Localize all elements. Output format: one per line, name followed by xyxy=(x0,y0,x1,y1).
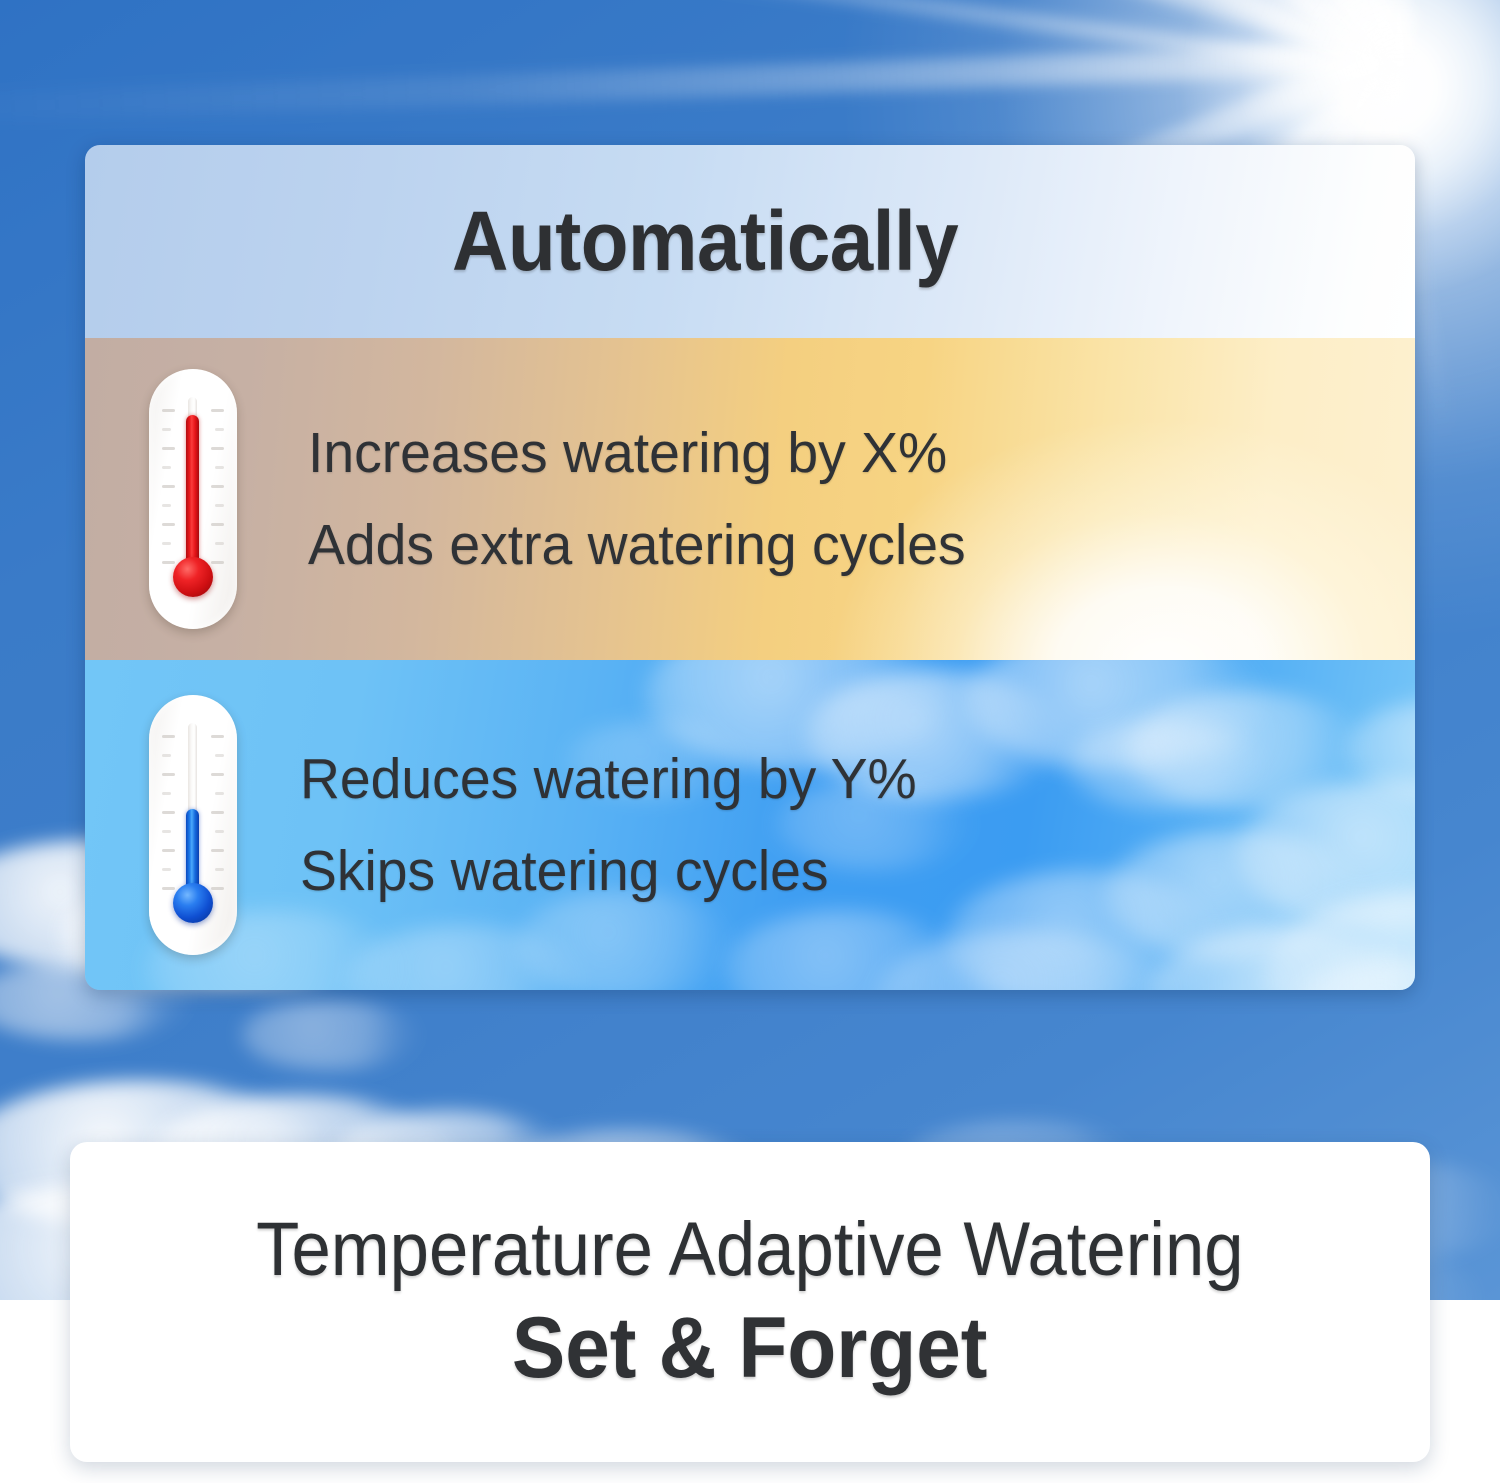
thermometer-tick xyxy=(162,561,175,564)
thermometer-tick xyxy=(215,504,224,507)
sun-ray xyxy=(940,0,1414,75)
thermometer-tick xyxy=(211,561,224,564)
thermometer-tick xyxy=(162,792,171,795)
thermometer-tick xyxy=(162,504,171,507)
warm-weather-row: Increases watering by X% Adds extra wate… xyxy=(85,338,1415,660)
warm-row-text: Increases watering by X% Adds extra wate… xyxy=(300,407,1415,592)
thermometer-tick xyxy=(162,523,175,526)
thermometer-tick xyxy=(162,447,175,450)
sun-ray xyxy=(1228,0,1402,82)
thermometer-tick xyxy=(215,428,224,431)
thermometer-tick xyxy=(162,735,175,738)
cold-line-1: Reduces watering by Y% xyxy=(300,733,1382,825)
sun-ray xyxy=(487,0,1416,71)
thermometer-tick xyxy=(162,887,175,890)
caption-subheadline: Set & Forget xyxy=(512,1299,987,1398)
sun-ray xyxy=(0,0,1402,66)
hot-thermometer-wrap xyxy=(85,369,300,629)
thermometer-tick xyxy=(215,868,224,871)
warm-line-2: Adds extra watering cycles xyxy=(308,499,1382,591)
thermometer-bulb xyxy=(173,883,213,923)
thermometer-tick xyxy=(211,485,224,488)
thermometer-tick xyxy=(215,830,224,833)
card-header-band: Automatically xyxy=(85,145,1415,338)
caption-panel: Temperature Adaptive Watering Set & Forg… xyxy=(70,1142,1430,1462)
thermometer-tick xyxy=(162,830,171,833)
cold-thermometer-wrap xyxy=(85,695,300,955)
thermometer-tick xyxy=(211,447,224,450)
thermometer-tick xyxy=(162,428,171,431)
thermometer-tick xyxy=(211,523,224,526)
thermometer-tick xyxy=(211,773,224,776)
thermometer-tick xyxy=(162,849,175,852)
thermometer-tick xyxy=(211,849,224,852)
sun-ray xyxy=(0,43,1390,125)
cold-weather-row: Reduces watering by Y% Skips watering cy… xyxy=(85,660,1415,990)
thermometer-tick xyxy=(162,811,175,814)
cold-row-text: Reduces watering by Y% Skips watering cy… xyxy=(300,733,1415,918)
sun-ray xyxy=(1356,0,1412,77)
thermometer-tick xyxy=(215,754,224,757)
thermometer-bulb xyxy=(173,557,213,597)
sun-ray xyxy=(152,0,1392,80)
thermometer-tick xyxy=(162,868,171,871)
warm-line-1: Increases watering by X% xyxy=(308,407,1382,499)
sun-ray xyxy=(33,0,1417,62)
page-title: Automatically xyxy=(452,193,958,290)
caption-headline: Temperature Adaptive Watering xyxy=(256,1206,1243,1293)
feature-card: Automatically Increases watering by X% A… xyxy=(85,145,1415,990)
sun-ray xyxy=(913,0,1405,79)
thermometer-mercury xyxy=(186,415,199,573)
thermometer-tick xyxy=(211,409,224,412)
thermometer-tick xyxy=(162,754,171,757)
sun-ray xyxy=(586,0,1399,81)
cloud xyxy=(240,1000,420,1070)
thermometer-tick xyxy=(211,735,224,738)
cold-thermometer-icon xyxy=(149,695,237,955)
thermometer-tick xyxy=(215,542,224,545)
thermometer-tick xyxy=(211,811,224,814)
hot-thermometer-icon xyxy=(149,369,237,629)
sun-ray xyxy=(339,0,1398,78)
thermometer-tick xyxy=(162,542,171,545)
thermometer-tick xyxy=(162,485,175,488)
thermometer-tick xyxy=(215,792,224,795)
thermometer-tick xyxy=(215,466,224,469)
thermometer-tick xyxy=(211,887,224,890)
cold-line-2: Skips watering cycles xyxy=(300,825,1382,917)
thermometer-tick xyxy=(162,466,171,469)
thermometer-tick xyxy=(162,409,175,412)
thermometer-tick xyxy=(162,773,175,776)
